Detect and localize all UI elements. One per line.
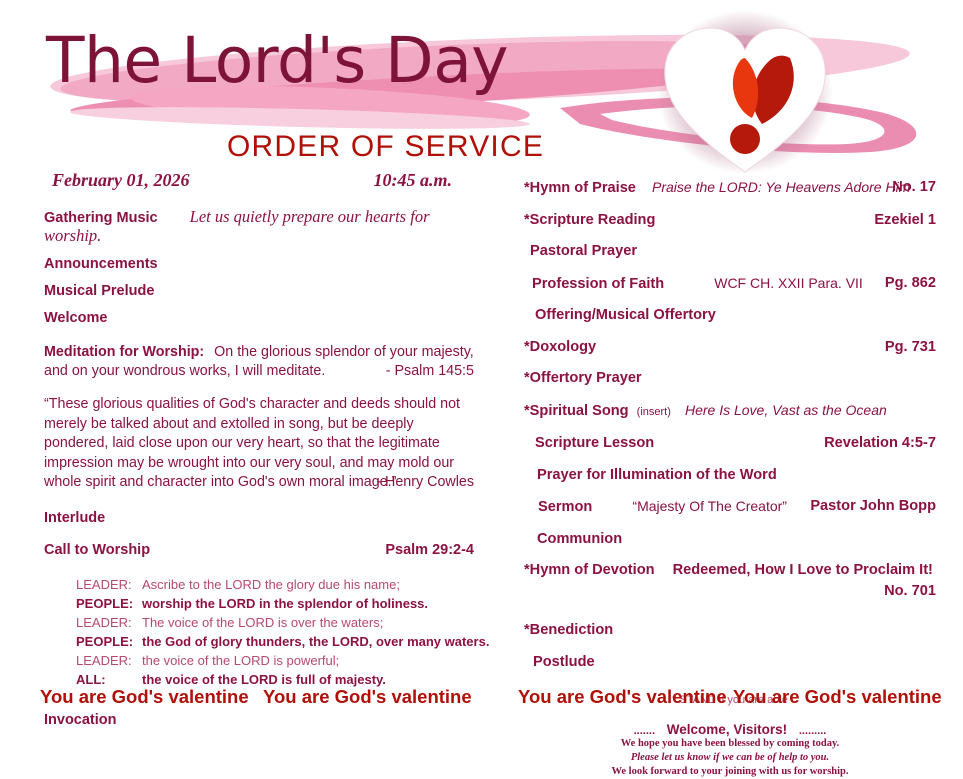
order-item-label: Gathering Music: [44, 210, 158, 226]
order-item-hymn-of-praise: *Hymn of Praise Praise the LORD: Ye Heav…: [524, 178, 936, 198]
order-item-offertory-prayer: *Offertory Prayer: [524, 369, 936, 388]
order-item-label: Prayer for Illumination of the Word: [537, 467, 777, 483]
meditation-for-worship: Meditation for Worship: On the glorious …: [44, 343, 474, 381]
order-item-postlude: Postlude: [524, 653, 936, 672]
order-item-call-to-worship: Call to Worship Psalm 29:2-4: [44, 541, 474, 559]
order-item-label: Pastoral Prayer: [530, 243, 637, 259]
order-item-profession-of-faith: Profession of Faith WCF CH. XXII Para. V…: [524, 274, 936, 294]
quote-attribution: - Henry Cowles: [376, 473, 474, 493]
responsive-speaker: PEOPLE:: [76, 594, 142, 613]
order-item-communion: Communion: [524, 530, 936, 549]
responsive-speaker: PEOPLE:: [76, 632, 142, 651]
responsive-text: The voice of the LORD is over the waters…: [142, 615, 383, 630]
responsive-line: PEOPLE:the God of glory thunders, the LO…: [76, 632, 474, 651]
order-item-announcements: Announcements: [44, 255, 474, 273]
responsive-text: Ascribe to the LORD the glory due his na…: [142, 577, 400, 592]
welcome-heading-line: ....... Welcome, Visitors! .........: [524, 722, 936, 737]
order-item-title: Here Is Love, Vast as the Ocean: [685, 402, 887, 418]
order-item-gathering-music: Gathering Music Let us quietly prepare o…: [44, 208, 474, 246]
order-item-label: Communion: [537, 531, 622, 547]
order-of-service-heading: ORDER OF SERVICE: [227, 131, 544, 163]
order-item-reference: Revelation 4:5-7: [824, 434, 936, 453]
order-item-scripture-lesson: Scripture Lesson Revelation 4:5-7: [524, 434, 936, 453]
sermon-speaker: Pastor John Bopp: [810, 497, 936, 516]
order-item-hymn-of-devotion: *Hymn of Devotion Redeemed, How I Love t…: [524, 561, 936, 580]
hymn-devotion-number-row: No. 701: [524, 582, 936, 601]
order-item-label: Interlude: [44, 510, 105, 526]
responsive-text: the voice of the LORD is powerful;: [142, 653, 339, 668]
order-item-label: Offering/Musical Offertory: [535, 307, 716, 323]
order-item-number: No. 17: [892, 178, 936, 197]
order-item-interlude: Interlude: [44, 509, 474, 527]
pink-ring: [560, 97, 916, 153]
quote-block: “These glorious qualities of God's chara…: [44, 395, 474, 493]
pink-swoosh-under: [70, 103, 530, 133]
order-item-doxology: *Doxology Pg. 731: [524, 338, 936, 357]
welcome-heading: Welcome, Visitors!: [667, 722, 787, 737]
order-item-label: *Hymn of Devotion: [524, 562, 655, 578]
responsive-line: LEADER:the voice of the LORD is powerful…: [76, 651, 474, 670]
welcome-line-3: We look forward to your joining with us …: [524, 765, 936, 779]
order-item-label: Call to Worship: [44, 542, 150, 558]
order-item-detail: WCF CH. XXII Para. VII: [714, 275, 863, 291]
order-item-label: Welcome: [44, 310, 107, 326]
order-item-benediction: *Benediction: [524, 621, 936, 640]
left-column: Gathering Music Let us quietly prepare o…: [44, 208, 474, 738]
order-item-spiritual-song: *Spiritual Song (insert) Here Is Love, V…: [524, 401, 936, 422]
order-item-label: *Doxology: [524, 339, 596, 355]
order-item-label: *Offertory Prayer: [524, 370, 642, 386]
responsive-text: worship the LORD in the splendor of holi…: [142, 596, 428, 611]
order-item-label: Sermon: [538, 499, 592, 515]
order-item-label: Postlude: [533, 654, 595, 670]
order-item-label: *Benediction: [524, 622, 613, 638]
meditation-reference: - Psalm 145:5: [386, 362, 474, 381]
order-item-offering: Offering/Musical Offertory: [524, 306, 936, 325]
order-item-reference: Ezekiel 1: [874, 211, 936, 230]
order-item-insert-note: (insert): [637, 406, 671, 418]
order-item-number: No. 701: [884, 583, 936, 599]
order-item-label: *Spiritual Song: [524, 403, 629, 419]
responsive-text: the voice of the LORD is full of majesty…: [142, 672, 386, 687]
responsive-line: LEADER:The voice of the LORD is over the…: [76, 613, 474, 632]
meditation-label: Meditation for Worship:: [44, 344, 204, 360]
welcome-line-1: We hope you have been blessed by coming …: [524, 737, 936, 751]
order-item-title: Redeemed, How I Love to Proclaim It!: [673, 562, 933, 578]
valentine-message: You are God's valentine: [733, 686, 942, 708]
order-item-label: Profession of Faith: [532, 276, 664, 292]
responsive-speaker: LEADER:: [76, 575, 142, 594]
order-item-pastoral-prayer: Pastoral Prayer: [524, 242, 936, 261]
welcome-line-2: Please let us know if we can be of help …: [524, 751, 936, 765]
order-item-label: Scripture Lesson: [535, 435, 654, 451]
responsive-line: PEOPLE:worship the LORD in the splendor …: [76, 594, 474, 613]
valentine-message: You are God's valentine: [40, 686, 249, 708]
order-item-welcome: Welcome: [44, 309, 474, 327]
date-line: 10:45 a.m. February 01, 2026: [52, 170, 452, 191]
page-title: The Lord's Day: [46, 29, 508, 92]
order-item-scripture-reading: *Scripture Reading Ezekiel 1: [524, 211, 936, 230]
order-item-label: Musical Prelude: [44, 283, 154, 299]
order-item-title: Praise the LORD: Ye Heavens Adore Him: [652, 179, 910, 195]
sermon-title: “Majesty Of The Creator”: [632, 498, 787, 514]
bulletin-page: The Lord's Day ORDER OF SERVICE 10:45 a.…: [0, 0, 963, 735]
order-item-label: Announcements: [44, 256, 158, 272]
order-item-musical-prelude: Musical Prelude: [44, 282, 474, 300]
order-item-sermon: Sermon “Majesty Of The Creator” Pastor J…: [524, 497, 936, 517]
order-item-label: *Hymn of Praise: [524, 180, 636, 196]
call-to-worship-reference: Psalm 29:2-4: [385, 541, 474, 559]
valentine-message: You are God's valentine: [518, 686, 727, 708]
order-item-page: Pg. 862: [885, 274, 936, 293]
order-item-page: Pg. 731: [885, 338, 936, 357]
footer-valentine-row: You are God's valentine You are God's va…: [0, 686, 963, 720]
responsive-speaker: LEADER:: [76, 651, 142, 670]
responsive-text: the God of glory thunders, the LORD, ove…: [142, 634, 489, 649]
heart-exclamation-logo: [657, 10, 833, 174]
order-item-prayer-for-illumination: Prayer for Illumination of the Word: [524, 466, 936, 485]
welcome-visitors-block: ....... Welcome, Visitors! ......... We …: [524, 722, 936, 779]
service-date: February 01, 2026: [52, 170, 190, 190]
order-item-label: *Scripture Reading: [524, 212, 655, 228]
valentine-message: You are God's valentine: [263, 686, 472, 708]
responsive-reading: LEADER:Ascribe to the LORD the glory due…: [76, 575, 474, 689]
service-time: 10:45 a.m.: [374, 170, 453, 191]
responsive-line: LEADER:Ascribe to the LORD the glory due…: [76, 575, 474, 594]
responsive-speaker: LEADER:: [76, 613, 142, 632]
